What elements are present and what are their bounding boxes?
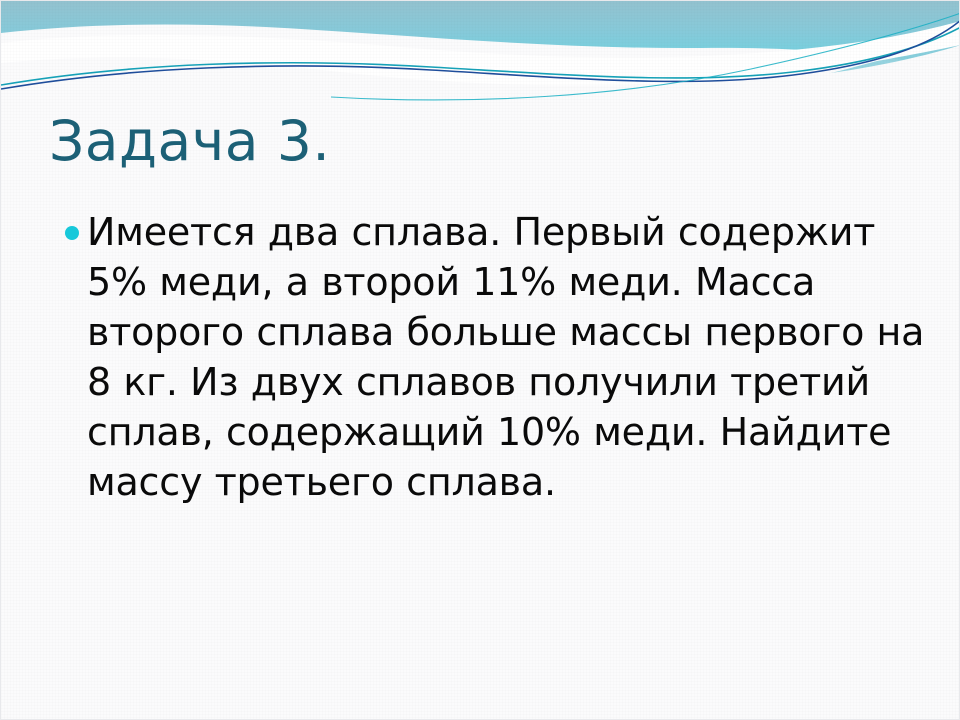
title-block: Задача 3. [49,113,909,171]
bullet-dot-icon [65,226,79,240]
list-item-text: Имеется два сплава. Первый содержит 5% м… [87,207,929,507]
slide-title: Задача 3. [49,113,909,171]
body-block: Имеется два сплава. Первый содержит 5% м… [57,207,929,507]
wave-banner-decoration [1,1,960,119]
bullet-list: Имеется два сплава. Первый содержит 5% м… [57,207,929,507]
list-item: Имеется два сплава. Первый содержит 5% м… [57,207,929,507]
presentation-slide: Задача 3. Имеется два сплава. Первый сод… [0,0,960,720]
